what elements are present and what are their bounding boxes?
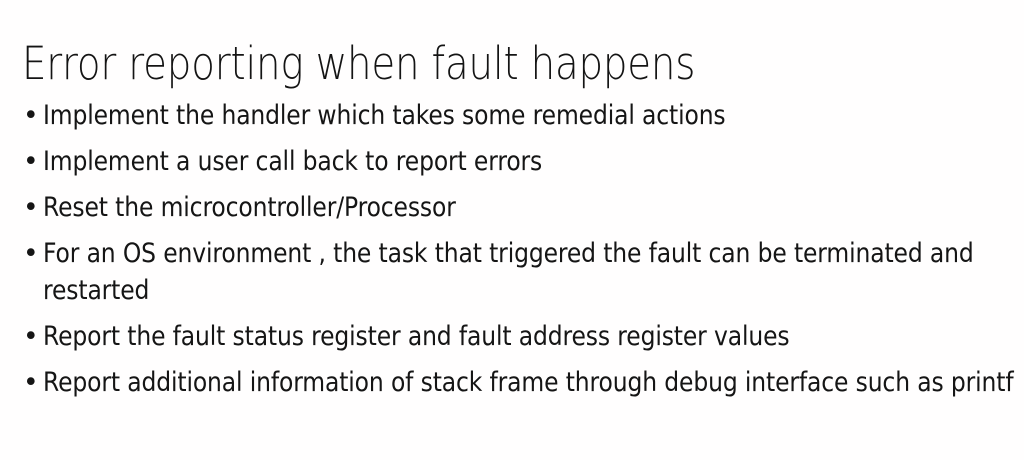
bullet-dot-icon: • — [23, 97, 37, 134]
list-item-label: For an OS environment , the task that tr… — [43, 235, 1022, 309]
list-item: • Implement a user call back to report e… — [22, 143, 1022, 180]
list-item: • Implement the handler which takes some… — [22, 97, 1022, 134]
bullet-list: • Implement the handler which takes some… — [22, 97, 1022, 401]
list-item: • Report the fault status register and f… — [22, 318, 1022, 355]
page-title: Error reporting when fault happens — [22, 39, 865, 89]
list-item-label: Implement the handler which takes some r… — [43, 97, 1022, 134]
list-item-label: Report the fault status register and fau… — [43, 318, 1022, 355]
list-item-label: Report additional information of stack f… — [43, 364, 1022, 401]
list-item: • For an OS environment , the task that … — [22, 235, 1022, 309]
bullet-dot-icon: • — [23, 318, 37, 355]
list-item: • Reset the microcontroller/Processor — [22, 189, 1022, 226]
presentation-slide: Error reporting when fault happens • Imp… — [0, 0, 1024, 460]
bullet-dot-icon: • — [23, 235, 37, 272]
list-item-label: Reset the microcontroller/Processor — [43, 189, 1022, 226]
bullet-dot-icon: • — [23, 364, 37, 401]
bullet-dot-icon: • — [23, 189, 37, 226]
bullet-dot-icon: • — [23, 143, 37, 180]
list-item-label: Implement a user call back to report err… — [43, 143, 1022, 180]
list-item: • Report additional information of stack… — [22, 364, 1022, 401]
